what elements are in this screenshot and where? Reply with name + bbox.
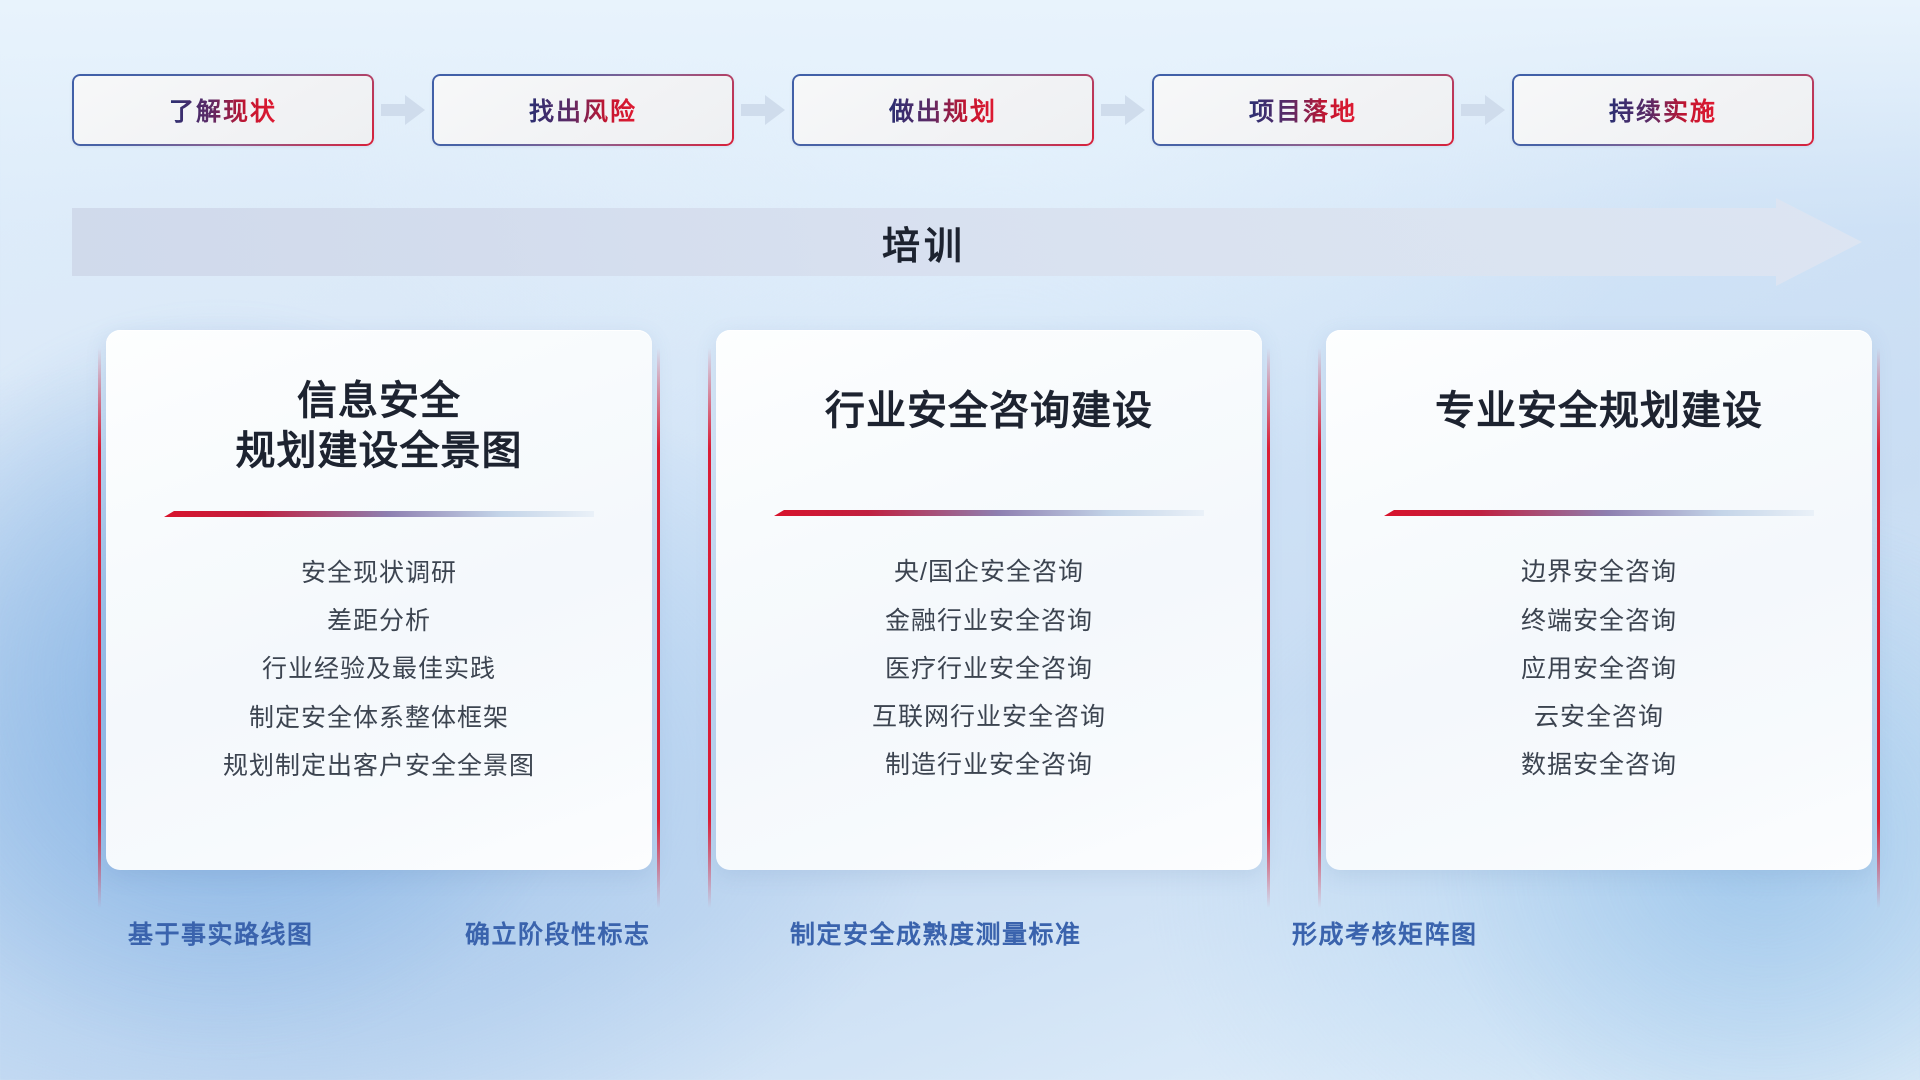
step-box-2[interactable]: 找出风险 [432, 74, 734, 146]
step-box-3[interactable]: 做出规划 [792, 74, 1094, 146]
card-accent-line-left [98, 348, 101, 908]
card-divider-2 [774, 510, 1204, 519]
caption-4: 形成考核矩阵图 [1292, 915, 1478, 951]
list-item: 央/国企安全咨询 [894, 557, 1084, 588]
card-divider-3 [1384, 510, 1814, 519]
training-banner-label: 培训 [72, 198, 1776, 286]
list-item: 边界安全咨询 [1521, 557, 1677, 588]
card-accent-line-left [708, 348, 711, 908]
card-title-line: 行业安全咨询建设 [825, 386, 1153, 436]
card-accent-line-right [1267, 348, 1270, 908]
caption-row: 基于事实路线图 确立阶段性标志 制定安全成熟度测量标准 形成考核矩阵图 [0, 915, 1920, 961]
list-item: 应用安全咨询 [1521, 654, 1677, 685]
card-title-1: 信息安全 规划建设全景图 [236, 376, 523, 477]
step-box-4[interactable]: 项目落地 [1152, 74, 1454, 146]
card-wrapper-1: 信息安全 规划建设全景图 [106, 330, 652, 870]
card-accent-line-right [1877, 348, 1880, 908]
list-item: 行业经验及最佳实践 [262, 654, 496, 685]
arrow-right-icon [734, 74, 792, 146]
step-label-5: 持续实施 [1609, 92, 1717, 128]
list-item: 制造行业安全咨询 [885, 750, 1093, 781]
card-3[interactable]: 专业安全规划建设 边界安 [1326, 330, 1872, 870]
card-accent-line-right [657, 348, 660, 908]
card-title-2: 行业安全咨询建设 [825, 386, 1153, 436]
list-item: 金融行业安全咨询 [885, 606, 1093, 637]
list-item: 互联网行业安全咨询 [872, 702, 1106, 733]
arrow-right-icon [1454, 74, 1512, 146]
list-item: 数据安全咨询 [1521, 750, 1677, 781]
list-item: 规划制定出客户安全全景图 [223, 751, 535, 782]
arrow-right-icon [374, 74, 432, 146]
process-step-row: 了解现状 找出风险 做出规划 项目落地 持续实施 [72, 74, 1848, 146]
list-item: 安全现状调研 [301, 558, 457, 589]
step-label-3: 做出规划 [889, 92, 997, 128]
list-item: 终端安全咨询 [1521, 606, 1677, 637]
card-accent-line-left [1318, 348, 1321, 908]
card-title-line: 信息安全 [236, 376, 523, 426]
card-list-1: 安全现状调研 差距分析 行业经验及最佳实践 制定安全体系整体框架 规划制定出客户… [140, 558, 618, 782]
caption-1: 基于事实路线图 [128, 915, 314, 951]
card-title-line: 规划建设全景图 [236, 426, 523, 476]
card-list-3: 边界安全咨询 终端安全咨询 应用安全咨询 云安全咨询 数据安全咨询 [1360, 557, 1838, 781]
list-item: 制定安全体系整体框架 [249, 703, 509, 734]
card-1[interactable]: 信息安全 规划建设全景图 [106, 330, 652, 870]
step-label-2: 找出风险 [529, 92, 637, 128]
card-row: 信息安全 规划建设全景图 [106, 330, 1856, 870]
step-label-1: 了解现状 [169, 92, 277, 128]
arrow-right-icon [1094, 74, 1152, 146]
step-label-4: 项目落地 [1249, 92, 1357, 128]
card-2[interactable]: 行业安全咨询建设 央/国 [716, 330, 1262, 870]
card-wrapper-2: 行业安全咨询建设 央/国 [716, 330, 1262, 870]
list-item: 云安全咨询 [1534, 702, 1664, 733]
card-list-2: 央/国企安全咨询 金融行业安全咨询 医疗行业安全咨询 互联网行业安全咨询 制造行… [750, 557, 1228, 781]
list-item: 差距分析 [327, 606, 431, 637]
caption-2: 确立阶段性标志 [465, 915, 651, 951]
training-banner: 培训 [72, 198, 1862, 286]
list-item: 医疗行业安全咨询 [885, 654, 1093, 685]
card-wrapper-3: 专业安全规划建设 边界安 [1326, 330, 1872, 870]
step-box-5[interactable]: 持续实施 [1512, 74, 1814, 146]
step-box-1[interactable]: 了解现状 [72, 74, 374, 146]
card-title-3: 专业安全规划建设 [1435, 386, 1763, 436]
card-divider-1 [164, 511, 594, 520]
card-title-line: 专业安全规划建设 [1435, 386, 1763, 436]
caption-3: 制定安全成熟度测量标准 [790, 915, 1082, 951]
